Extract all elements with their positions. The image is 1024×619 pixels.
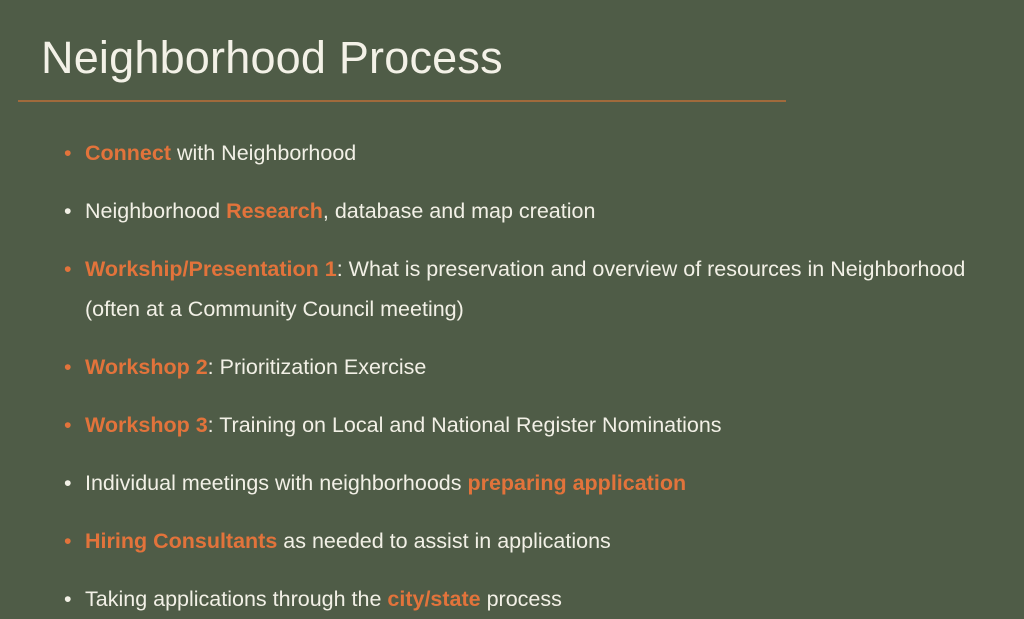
title-divider: [18, 100, 786, 102]
list-item: •Neighborhood Research, database and map…: [0, 191, 1024, 231]
bullet-dot-icon: •: [64, 249, 82, 289]
body-text: Neighborhood: [85, 199, 226, 223]
page-title: Neighborhood Process: [41, 33, 503, 83]
bullet-dot-icon: •: [64, 463, 82, 503]
body-text: : Training on Local and National Registe…: [208, 413, 722, 437]
emphasis-text: Connect: [85, 141, 171, 165]
emphasis-text: city/state: [387, 587, 480, 611]
body-text: Individual meetings with neighborhoods: [85, 471, 467, 495]
list-item: •Individual meetings with neighborhoods …: [0, 463, 1024, 503]
list-item: •Workship/Presentation 1: What is preser…: [0, 249, 1024, 329]
emphasis-text: Workship/Presentation 1: [85, 257, 337, 281]
list-item: •Connect with Neighborhood: [0, 133, 1024, 173]
body-text: process: [481, 587, 562, 611]
bullet-dot-icon: •: [64, 521, 82, 561]
bullet-dot-icon: •: [64, 579, 82, 619]
emphasis-text: Hiring Consultants: [85, 529, 277, 553]
bullet-dot-icon: •: [64, 191, 82, 231]
list-item: •Taking applications through the city/st…: [0, 579, 1024, 619]
bullet-list: •Connect with Neighborhood•Neighborhood …: [0, 133, 1024, 619]
bullet-dot-icon: •: [64, 405, 82, 445]
emphasis-text: preparing application: [467, 471, 686, 495]
emphasis-text: Research: [226, 199, 323, 223]
bullet-dot-icon: •: [64, 133, 82, 173]
list-item: •Workshop 2: Prioritization Exercise: [0, 347, 1024, 387]
list-item: •Workshop 3: Training on Local and Natio…: [0, 405, 1024, 445]
body-text: as needed to assist in applications: [277, 529, 610, 553]
body-text: , database and map creation: [323, 199, 596, 223]
bullet-dot-icon: •: [64, 347, 82, 387]
body-text: with Neighborhood: [171, 141, 356, 165]
slide-canvas: Neighborhood Process •Connect with Neigh…: [0, 0, 1024, 576]
body-text: : Prioritization Exercise: [208, 355, 427, 379]
emphasis-text: Workshop 2: [85, 355, 208, 379]
emphasis-text: Workshop 3: [85, 413, 208, 437]
body-text: Taking applications through the: [85, 587, 387, 611]
list-item: •Hiring Consultants as needed to assist …: [0, 521, 1024, 561]
